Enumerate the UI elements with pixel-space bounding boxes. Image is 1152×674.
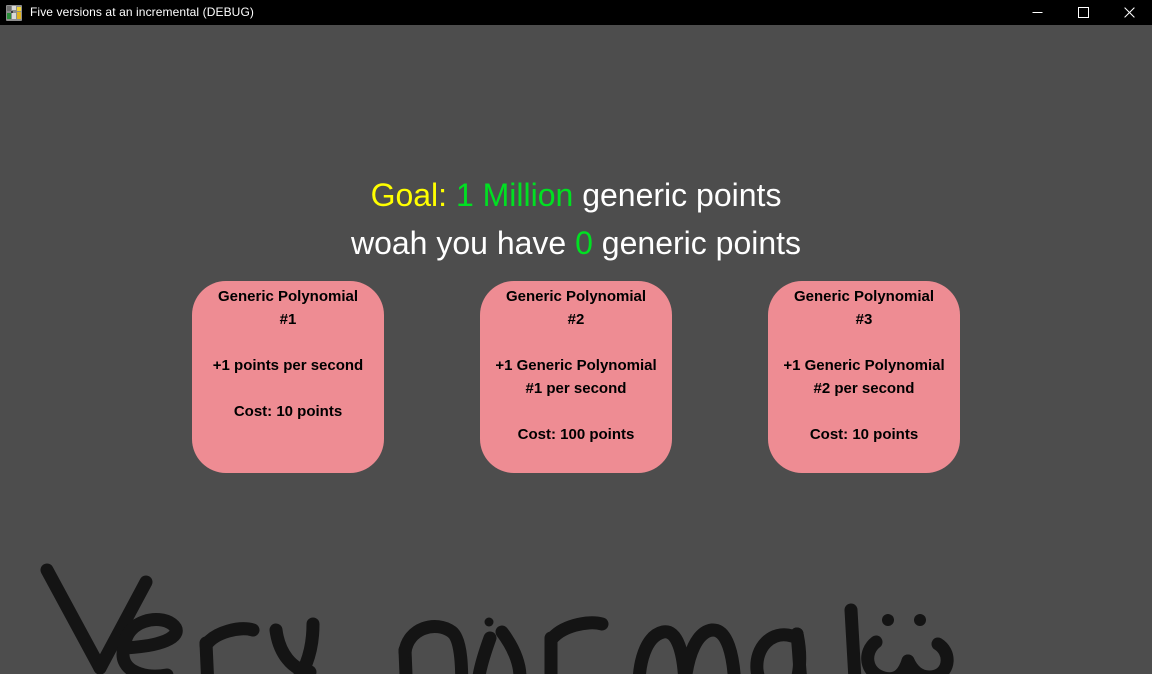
points-amount: 0: [575, 225, 593, 261]
upgrade-card-3-effect-line2: #2 per second: [814, 380, 915, 397]
game-canvas: Goal: 1 Million generic points woah you …: [0, 25, 1152, 674]
upgrade-card-3-title: Generic Polynomial #3: [762, 285, 966, 331]
upgrade-card-1-content: Generic Polynomial #1 +1 points per seco…: [186, 285, 390, 423]
points-prefix: woah you have: [351, 225, 566, 261]
upgrade-card-2-effect-line2: #1 per second: [526, 380, 627, 397]
goal-amount: 1 Million: [456, 177, 573, 213]
upgrade-card-1-effect-line1: +1 points per second: [213, 357, 363, 374]
upgrade-card-2-cost: Cost: 100 points: [474, 423, 678, 446]
maximize-button[interactable]: [1060, 0, 1106, 25]
title-bar-left: Five versions at an incremental (DEBUG): [0, 0, 1014, 25]
upgrade-card-2-effect-line1: +1 Generic Polynomial: [495, 357, 656, 374]
upgrade-card-3-effect-line1: +1 Generic Polynomial: [783, 357, 944, 374]
upgrade-card-2-content: Generic Polynomial #2 +1 Generic Polynom…: [474, 285, 678, 446]
close-button[interactable]: [1106, 0, 1152, 25]
upgrade-card-1-title: Generic Polynomial #1: [186, 285, 390, 331]
upgrade-card-1-effect: +1 points per second: [186, 354, 390, 377]
minimize-icon: [1032, 7, 1043, 18]
upgrade-card-3-effect: +1 Generic Polynomial #2 per second: [762, 354, 966, 400]
upgrade-card-2-title-text: Generic Polynomial: [506, 288, 646, 305]
upgrade-card-1-cost: Cost: 10 points: [186, 400, 390, 423]
points-unit: generic points: [602, 225, 801, 261]
goal-line: Goal: 1 Million generic points: [0, 171, 1152, 219]
upgrade-card-2[interactable]: Generic Polynomial #2 +1 Generic Polynom…: [480, 281, 672, 473]
close-icon: [1124, 7, 1135, 18]
window-title: Five versions at an incremental (DEBUG): [30, 0, 254, 25]
upgrade-card-1-number: #1: [280, 311, 297, 328]
upgrade-card-2-effect: +1 Generic Polynomial #1 per second: [474, 354, 678, 400]
upgrade-card-2-title: Generic Polynomial #2: [474, 285, 678, 331]
goal-unit: generic points: [582, 177, 781, 213]
upgrade-card-3-number: #3: [856, 311, 873, 328]
minimize-button[interactable]: [1014, 0, 1060, 25]
upgrade-card-2-number: #2: [568, 311, 585, 328]
upgrade-card-row: Generic Polynomial #1 +1 points per seco…: [0, 281, 1152, 481]
upgrade-card-3[interactable]: Generic Polynomial #3 +1 Generic Polynom…: [768, 281, 960, 473]
upgrade-card-3-title-text: Generic Polynomial: [794, 288, 934, 305]
maximize-icon: [1078, 7, 1089, 18]
window-controls: [1014, 0, 1152, 25]
upgrade-card-1-title-text: Generic Polynomial: [218, 288, 358, 305]
app-pixel-icon: [6, 5, 22, 21]
headline-block: Goal: 1 Million generic points woah you …: [0, 171, 1152, 267]
upgrade-card-3-content: Generic Polynomial #3 +1 Generic Polynom…: [762, 285, 966, 446]
goal-label: Goal:: [371, 177, 447, 213]
title-bar: Five versions at an incremental (DEBUG): [0, 0, 1152, 25]
points-line: woah you have 0 generic points: [0, 219, 1152, 267]
app-window: Five versions at an incremental (DEBUG): [0, 0, 1152, 674]
handwritten-doodle: [0, 520, 1152, 674]
upgrade-card-3-cost: Cost: 10 points: [762, 423, 966, 446]
upgrade-card-1[interactable]: Generic Polynomial #1 +1 points per seco…: [192, 281, 384, 473]
